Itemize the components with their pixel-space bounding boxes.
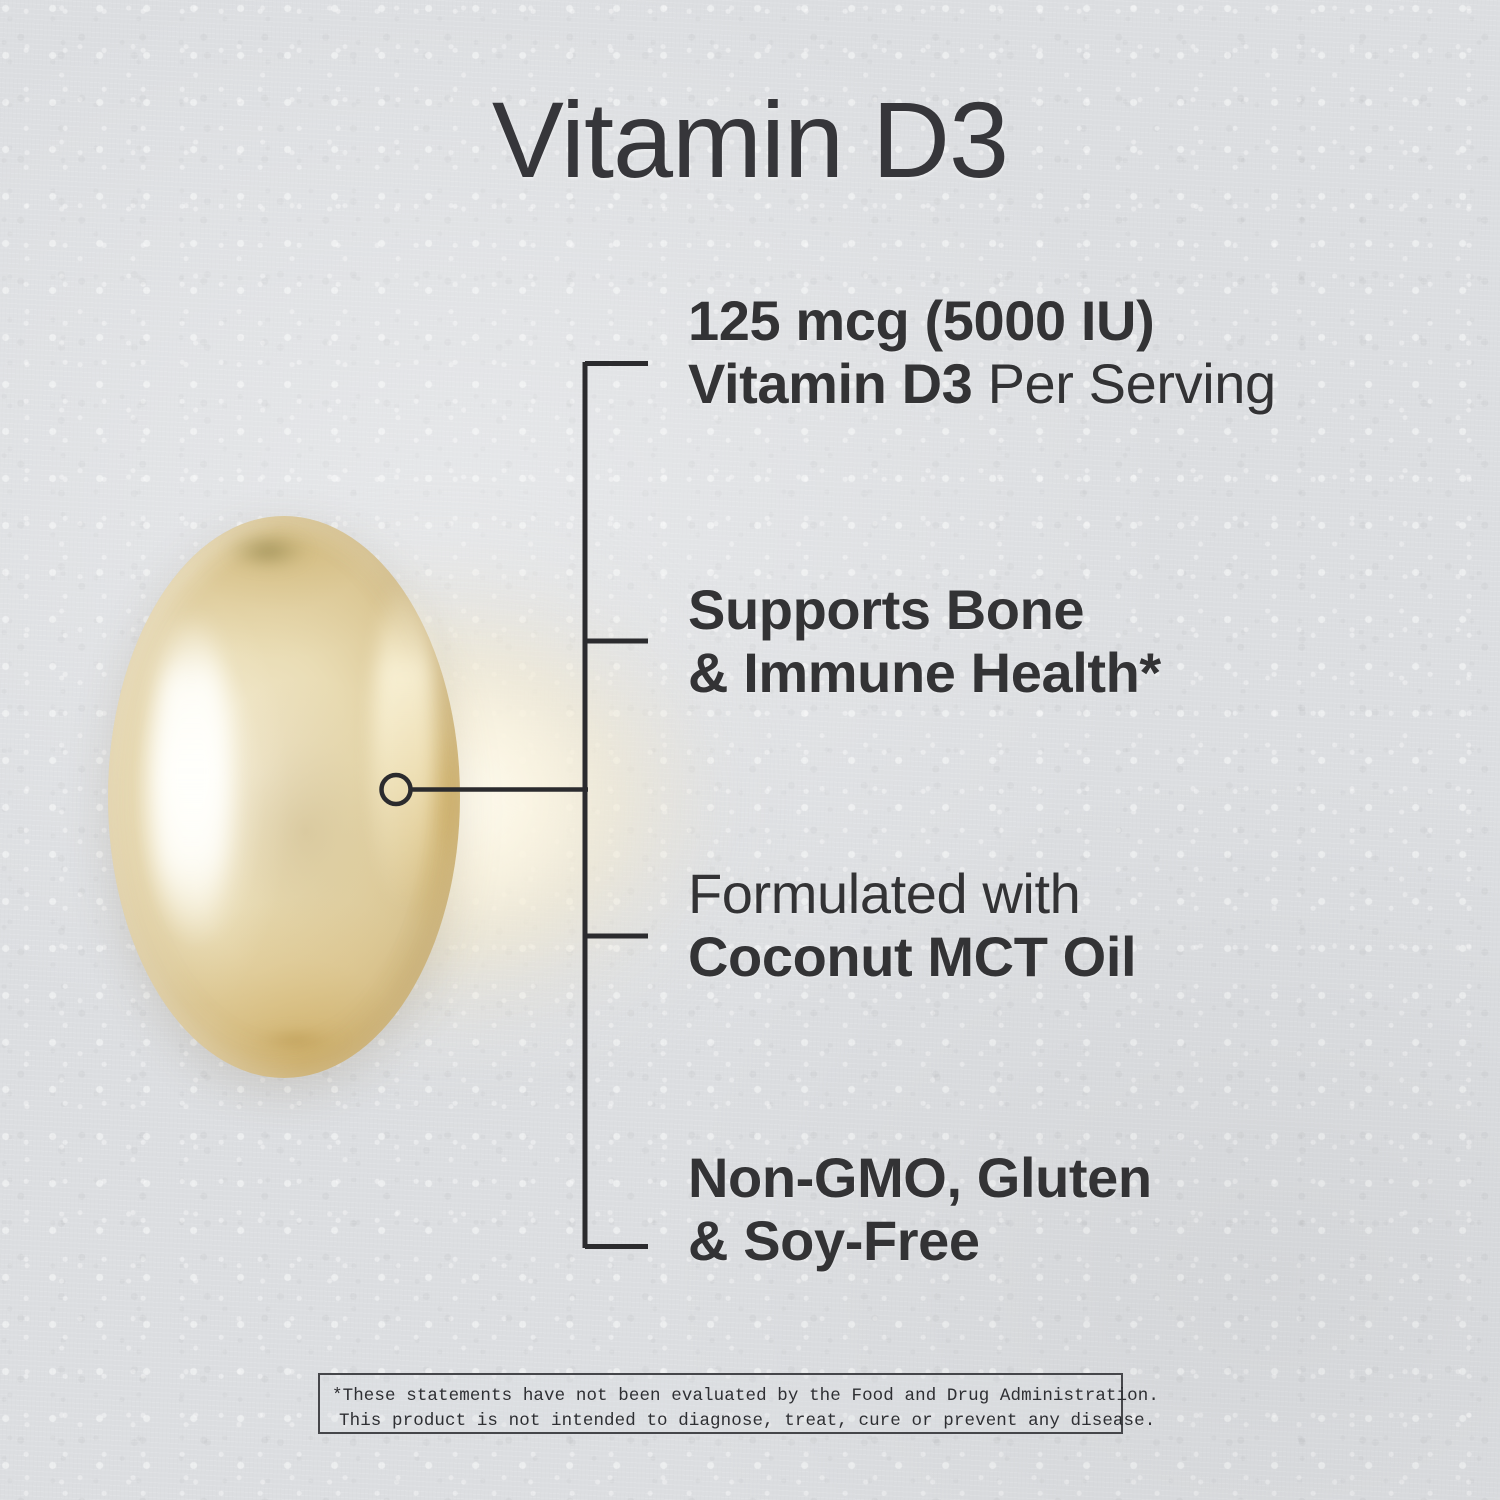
feature-benefit-line1: Supports Bone	[688, 578, 1478, 641]
feature-formulation-line2: Coconut MCT Oil	[688, 925, 1478, 988]
product-infographic: Vitamin D3 125 mcg (5000 IU) Vitamin D3 …	[0, 0, 1500, 1500]
disclaimer-line-1: *These statements have not been evaluate…	[332, 1384, 1109, 1409]
feature-formulation-line1: Formulated with	[688, 862, 1478, 925]
capsule-specular-highlight	[152, 612, 230, 942]
feature-benefit-line2: & Immune Health*	[688, 641, 1478, 704]
fda-disclaimer-box: *These statements have not been evaluate…	[318, 1373, 1123, 1434]
disclaimer-line-2: This product is not intended to diagnose…	[332, 1409, 1109, 1434]
feature-free-from-line1: Non-GMO, Gluten	[688, 1146, 1478, 1209]
feature-formulation: Formulated with Coconut MCT Oil	[688, 862, 1478, 989]
capsule-bottom-seam	[236, 1028, 356, 1058]
feature-benefit: Supports Bone & Immune Health*	[688, 578, 1478, 705]
feature-dosage-line2-regular: Per Serving	[972, 352, 1275, 415]
feature-dosage-line1: 125 mcg (5000 IU)	[688, 289, 1478, 352]
capsule-edge-catchlight	[372, 580, 436, 910]
page-title: Vitamin D3	[0, 86, 1500, 194]
feature-free-from-line2: & Soy-Free	[688, 1209, 1478, 1272]
feature-dosage: 125 mcg (5000 IU) Vitamin D3 Per Serving	[688, 289, 1478, 416]
feature-dosage-line2-bold: Vitamin D3	[688, 352, 972, 415]
capsule-top-blemish	[216, 528, 320, 574]
feature-dosage-line2: Vitamin D3 Per Serving	[688, 352, 1478, 415]
feature-free-from: Non-GMO, Gluten & Soy-Free	[688, 1146, 1478, 1273]
